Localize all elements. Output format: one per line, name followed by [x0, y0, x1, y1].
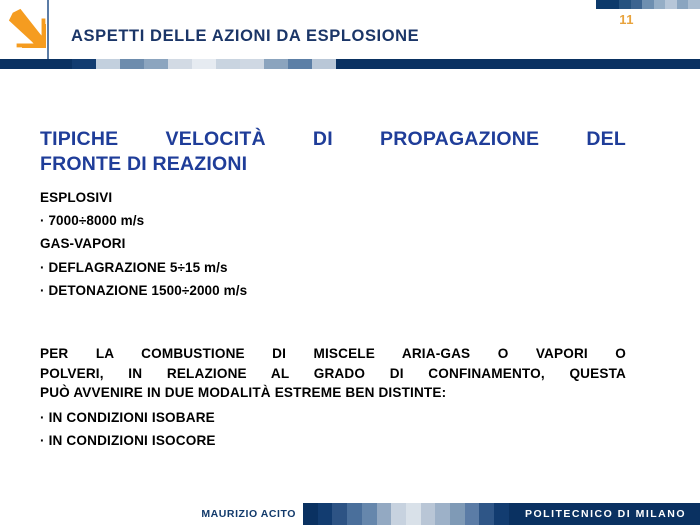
slide-footer: MAURIZIO ACITO POLITECNICO DI MILANO: [0, 503, 700, 525]
organization-name: POLITECNICO DI MILANO: [525, 508, 686, 520]
header-vertical-rule: [47, 0, 49, 60]
deco-segment: [596, 0, 608, 9]
paragraph-line: POLVERI, IN RELAZIONE AL GRADO DI CONFIN…: [40, 364, 626, 384]
deco-segment: [168, 59, 192, 69]
combustion-paragraph: PER LA COMBUSTIONE DI MISCELE ARIA-GAS O…: [40, 344, 626, 403]
deco-segment: [377, 503, 392, 525]
list-item: · IN CONDIZIONI ISOCORE: [40, 430, 626, 453]
deco-segment: [391, 503, 406, 525]
deco-segment: [631, 0, 643, 9]
deco-segment: [312, 59, 336, 69]
list-item: GAS-VAPORI: [40, 232, 626, 255]
list-item: · 7000÷8000 m/s: [40, 209, 626, 232]
paragraph-line: PER LA COMBUSTIONE DI MISCELE ARIA-GAS O…: [40, 344, 626, 364]
deco-segment: [608, 0, 620, 9]
deco-segment: [421, 503, 436, 525]
page-title: ASPETTI DELLE AZIONI DA ESPLOSIONE: [71, 27, 419, 46]
slide-header: 11 ASPETTI DELLE AZIONI DA ESPLOSIONE: [0, 0, 700, 60]
footer-decorative-bar: [303, 503, 509, 525]
section-title: TIPICHE VELOCITÀ DI PROPAGAZIONE DEL FRO…: [40, 127, 626, 176]
deco-segment: [96, 59, 120, 69]
deco-segment: [654, 0, 666, 9]
deco-segment: [677, 0, 689, 9]
conditions-list: · IN CONDIZIONI ISOBARE · IN CONDIZIONI …: [40, 407, 626, 453]
section-title-line-1: TIPICHE VELOCITÀ DI PROPAGAZIONE DEL: [40, 127, 626, 152]
paragraph-line: PUÒ AVVENIRE IN DUE MODALITÀ ESTREME BEN…: [40, 383, 626, 403]
deco-segment: [688, 0, 700, 9]
deco-segment: [494, 503, 509, 525]
deco-segment: [192, 59, 216, 69]
list-item: ESPLOSIVI: [40, 186, 626, 209]
deco-segment: [288, 59, 312, 69]
deco-segment: [332, 503, 347, 525]
deco-segment: [48, 59, 72, 69]
page-number: 11: [619, 12, 634, 27]
list-item: · DEFLAGRAZIONE 5÷15 m/s: [40, 256, 626, 279]
deco-segment: [619, 0, 631, 9]
deco-segment: [665, 0, 677, 9]
deco-segment: [642, 0, 654, 9]
velocity-list: ESPLOSIVI · 7000÷8000 m/s GAS-VAPORI · D…: [40, 186, 626, 302]
deco-segment: [479, 503, 494, 525]
deco-segment: [240, 59, 264, 69]
footer-author-area: MAURIZIO ACITO: [0, 503, 303, 525]
section-title-line-2: FRONTE DI REAZIONI: [40, 152, 626, 177]
deco-segment: [318, 503, 333, 525]
header-bar-fill: [336, 59, 700, 69]
list-item: · IN CONDIZIONI ISOBARE: [40, 407, 626, 430]
deco-segment: [144, 59, 168, 69]
deco-segment: [406, 503, 421, 525]
deco-segment: [362, 503, 377, 525]
deco-segment: [24, 59, 48, 69]
deco-segment: [435, 503, 450, 525]
deco-segment: [450, 503, 465, 525]
top-decorative-bar: [596, 0, 700, 9]
footer-organization-area: POLITECNICO DI MILANO: [509, 503, 700, 525]
deco-segment: [72, 59, 96, 69]
deco-segment: [347, 503, 362, 525]
deco-segment: [0, 59, 24, 69]
deco-segment: [264, 59, 288, 69]
arrow-down-right-icon: [8, 8, 48, 52]
deco-segment: [120, 59, 144, 69]
author-name: MAURIZIO ACITO: [201, 508, 296, 520]
header-gradient-bar: [0, 59, 700, 69]
list-item: · DETONAZIONE 1500÷2000 m/s: [40, 279, 626, 302]
deco-segment: [465, 503, 480, 525]
deco-segment: [216, 59, 240, 69]
slide-content: TIPICHE VELOCITÀ DI PROPAGAZIONE DEL FRO…: [0, 69, 700, 494]
deco-segment: [303, 503, 318, 525]
